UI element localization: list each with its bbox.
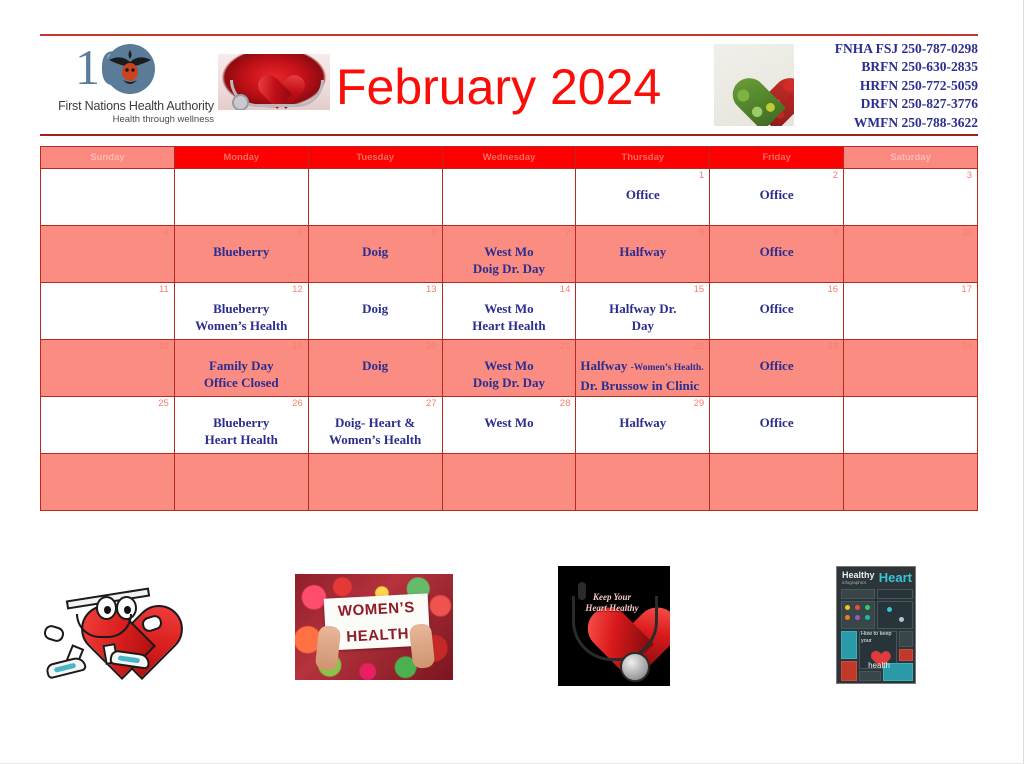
- day-events: Halfway: [576, 226, 709, 260]
- event-text: Blueberry: [175, 243, 308, 260]
- day-cell-inner: 17: [844, 283, 977, 339]
- day-events: West MoDoig Dr. Day: [443, 226, 576, 277]
- heart-shape-icon: [867, 645, 885, 661]
- calendar-week-row: 45Blueberry6Doig7West MoDoig Dr. Day8Hal…: [41, 226, 978, 283]
- fnha-logo: 10 First Nations Health Authority Health…: [52, 42, 220, 130]
- contact-item: HRFN 250-772-5059: [768, 77, 978, 95]
- weekday-header-wednesday: Wednesday: [442, 147, 576, 169]
- day-events: Office: [710, 397, 843, 431]
- event-text: Women’s Health: [309, 431, 442, 448]
- day-events: Doig: [309, 283, 442, 317]
- day-events: Office: [710, 169, 843, 203]
- day-cell-inner: 25: [41, 397, 174, 453]
- day-cell-inner: 18: [41, 340, 174, 396]
- infographic-title: Healthy infographics Heart: [842, 571, 912, 586]
- hand-right-icon: [409, 623, 435, 669]
- calendar-day-cell[interactable]: [844, 454, 978, 511]
- heart-arm-left-icon: [42, 623, 66, 643]
- day-number: 27: [426, 398, 437, 409]
- day-cell-inner: 16Office: [710, 283, 843, 339]
- calendar-day-cell[interactable]: [442, 169, 576, 226]
- infographic-dot: [855, 615, 860, 620]
- calendar-week-row: 1819Family DayOffice Closed20Doig21West …: [41, 340, 978, 397]
- day-cell-inner: 15Halfway Dr.Day: [576, 283, 709, 339]
- event-text: Office: [576, 186, 709, 203]
- day-events: Halfway: [576, 397, 709, 431]
- event-text: West Mo: [443, 300, 576, 317]
- calendar-day-cell[interactable]: 1Office: [576, 169, 710, 226]
- day-cell-inner: [309, 454, 442, 510]
- day-events: BlueberryHeart Health: [175, 397, 308, 448]
- calendar-grid: Sunday Monday Tuesday Wednesday Thursday…: [40, 146, 978, 511]
- calendar-day-cell[interactable]: [308, 454, 442, 511]
- day-cell-inner: [844, 454, 977, 510]
- calendar-day-cell[interactable]: [174, 169, 308, 226]
- day-events: Office: [710, 283, 843, 317]
- calendar-week-row: 1Office2Office3: [41, 169, 978, 226]
- healthy-heart-infographic-image: Healthy infographics Heart: [836, 566, 916, 684]
- event-text: Halfway: [576, 414, 709, 431]
- calendar-day-cell[interactable]: 24: [844, 340, 978, 397]
- day-cell-inner: 14West MoHeart Health: [443, 283, 576, 339]
- sign-line-1: WOMEN’S: [324, 595, 429, 624]
- calendar-day-cell[interactable]: 26BlueberryHeart Health: [174, 397, 308, 454]
- day-cell-inner: 26BlueberryHeart Health: [175, 397, 308, 453]
- day-number: 23: [827, 341, 838, 352]
- infographic-panel: [899, 631, 913, 647]
- day-number: 12: [292, 284, 303, 295]
- day-number: 24: [961, 341, 972, 352]
- day-events: Doig: [309, 226, 442, 260]
- day-events: Doig: [309, 340, 442, 374]
- contact-list: FNHA FSJ 250-787-0298 BRFN 250-630-2835 …: [768, 40, 978, 132]
- weekday-header-tuesday: Tuesday: [308, 147, 442, 169]
- day-cell-inner: 10: [844, 226, 977, 282]
- day-cell-inner: 24: [844, 340, 977, 396]
- day-number: 9: [833, 227, 838, 238]
- event-text: Doig: [309, 300, 442, 317]
- calendar-day-cell[interactable]: 4: [41, 226, 175, 283]
- calendar-day-cell[interactable]: 6Doig: [308, 226, 442, 283]
- calendar-day-cell[interactable]: 10: [844, 226, 978, 283]
- day-cell-inner: 29Halfway: [576, 397, 709, 453]
- day-number: 5: [297, 227, 302, 238]
- calendar-body: 1Office2Office345Blueberry6Doig7West MoD…: [41, 169, 978, 511]
- calendar-day-cell[interactable]: 7West MoDoig Dr. Day: [442, 226, 576, 283]
- infographic-panel: [877, 589, 913, 599]
- infographic-howto-text: How to keep your: [861, 631, 899, 645]
- day-cell-inner: 7West MoDoig Dr. Day: [443, 226, 576, 282]
- eagle-icon: [105, 44, 155, 94]
- calendar-day-cell[interactable]: 28West Mo: [442, 397, 576, 454]
- day-cell-inner: [710, 454, 843, 510]
- day-number: 28: [560, 398, 571, 409]
- event-text: -Women’s Health.: [631, 363, 704, 373]
- calendar-day-cell[interactable]: [41, 169, 175, 226]
- calendar-day-cell[interactable]: 16Office: [710, 283, 844, 340]
- day-events: BlueberryWomen’s Health: [175, 283, 308, 334]
- day-cell-inner: [41, 169, 174, 225]
- day-cell-inner: 1Office: [576, 169, 709, 225]
- day-number: 22: [694, 341, 705, 352]
- page-header: 10 First Nations Health Authority Health…: [40, 34, 978, 136]
- calendar-day-cell[interactable]: Office: [710, 397, 844, 454]
- org-tagline: Health through wellness: [52, 114, 220, 125]
- weekday-header-monday: Monday: [174, 147, 308, 169]
- event-text: Doig Dr. Day: [443, 260, 576, 277]
- calendar-day-cell[interactable]: [442, 454, 576, 511]
- calendar-day-cell[interactable]: 23Office: [710, 340, 844, 397]
- calendar-day-cell[interactable]: 12BlueberryWomen’s Health: [174, 283, 308, 340]
- day-number: 8: [699, 227, 704, 238]
- weekday-header-friday: Friday: [710, 147, 844, 169]
- event-text: Halfway Dr.: [576, 300, 709, 317]
- day-cell-inner: 12BlueberryWomen’s Health: [175, 283, 308, 339]
- event-text: Doig: [309, 243, 442, 260]
- calendar-day-cell[interactable]: 2Office: [710, 169, 844, 226]
- weekday-header-saturday: Saturday: [844, 147, 978, 169]
- day-number: 18: [158, 341, 169, 352]
- calendar-day-cell[interactable]: 15Halfway Dr.Day: [576, 283, 710, 340]
- event-text: Office: [710, 243, 843, 260]
- calendar-day-cell[interactable]: [308, 169, 442, 226]
- day-cell-inner: 5Blueberry: [175, 226, 308, 282]
- infographic-panel: [841, 631, 857, 659]
- day-cell-inner: 11: [41, 283, 174, 339]
- calendar-day-cell[interactable]: [576, 454, 710, 511]
- day-number: 20: [426, 341, 437, 352]
- calendar-day-cell[interactable]: 14West MoHeart Health: [442, 283, 576, 340]
- day-number: 7: [565, 227, 570, 238]
- day-events: Blueberry: [175, 226, 308, 260]
- page-title: February 2024: [336, 50, 661, 124]
- weekday-header-thursday: Thursday: [576, 147, 710, 169]
- day-events: West Mo: [443, 397, 576, 431]
- day-number: 10: [961, 227, 972, 238]
- stethoscope-bell-icon: [620, 652, 650, 682]
- day-number: 6: [431, 227, 436, 238]
- event-text: Day: [576, 317, 709, 334]
- day-cell-inner: [309, 169, 442, 225]
- calendar-day-cell[interactable]: [844, 397, 978, 454]
- infographic-panels: How to keep your health: [841, 589, 913, 681]
- day-number: 13: [426, 284, 437, 295]
- day-events: Family DayOffice Closed: [175, 340, 308, 391]
- event-text: Office: [710, 357, 843, 374]
- event-text: Blueberry: [175, 300, 308, 317]
- event-text: Office: [710, 414, 843, 431]
- weekday-header-sunday: Sunday: [41, 147, 175, 169]
- day-events: Doig- Heart &Women’s Health: [309, 397, 442, 448]
- event-text: Heart Health: [443, 317, 576, 334]
- event-text: Office Closed: [175, 374, 308, 391]
- event-text: West Mo: [443, 414, 576, 431]
- infographic-dot: [865, 605, 870, 610]
- day-cell-inner: 28West Mo: [443, 397, 576, 453]
- day-cell-inner: 23Office: [710, 340, 843, 396]
- infographic-dot: [899, 617, 904, 622]
- day-number: 1: [699, 170, 704, 181]
- day-number: 2: [833, 170, 838, 181]
- event-text: Office: [710, 300, 843, 317]
- day-cell-inner: 4: [41, 226, 174, 282]
- hand-left-icon: [315, 625, 341, 671]
- calendar-day-cell[interactable]: 13Doig: [308, 283, 442, 340]
- day-events: West MoHeart Health: [443, 283, 576, 334]
- calendar-header-row: Sunday Monday Tuesday Wednesday Thursday…: [41, 147, 978, 169]
- day-cell-inner: Office: [710, 397, 843, 453]
- infographic-health-word: health: [859, 661, 899, 670]
- day-events: Office: [576, 169, 709, 203]
- day-events: Halfway Dr.Day: [576, 283, 709, 334]
- calendar-day-cell[interactable]: [41, 454, 175, 511]
- infographic-panel: [841, 661, 857, 681]
- day-number: 21: [560, 341, 571, 352]
- day-cell-inner: 8Halfway: [576, 226, 709, 282]
- day-cell-inner: 9Office: [710, 226, 843, 282]
- calendar-day-cell[interactable]: 11: [41, 283, 175, 340]
- heart-stethoscope-photo: [218, 54, 330, 110]
- day-cell-inner: 2Office: [710, 169, 843, 225]
- stethoscope-bell-icon: [232, 94, 249, 110]
- calendar-day-cell[interactable]: 3: [844, 169, 978, 226]
- day-cell-inner: 27Doig- Heart &Women’s Health: [309, 397, 442, 453]
- calendar-page: 10 First Nations Health Authority Health…: [0, 0, 1024, 764]
- day-number: 19: [292, 341, 303, 352]
- day-number: 4: [164, 227, 169, 238]
- day-number: 14: [560, 284, 571, 295]
- calendar-day-cell[interactable]: 21West MoDoig Dr. Day: [442, 340, 576, 397]
- day-cell-inner: 22Halfway -Women’s Health. Dr. Brussow i…: [576, 340, 709, 396]
- day-cell-inner: [175, 169, 308, 225]
- calendar-day-cell[interactable]: 19Family DayOffice Closed: [174, 340, 308, 397]
- calendar-day-cell[interactable]: 8Halfway: [576, 226, 710, 283]
- day-number: 17: [961, 284, 972, 295]
- day-cell-inner: [844, 397, 977, 453]
- event-text: Women’s Health: [175, 317, 308, 334]
- infographic-panel: [899, 649, 913, 661]
- event-text: West Mo: [443, 357, 576, 374]
- womens-health-photo: WOMEN’S HEALTH: [295, 574, 453, 680]
- org-name: First Nations Health Authority: [52, 99, 220, 113]
- day-number: 3: [967, 170, 972, 181]
- day-cell-inner: [175, 454, 308, 510]
- calendar-day-cell[interactable]: 27Doig- Heart &Women’s Health: [308, 397, 442, 454]
- day-events: Office: [710, 226, 843, 260]
- day-cell-inner: 6Doig: [309, 226, 442, 282]
- infographic-dot: [865, 615, 870, 620]
- footer-image-strip: WOMEN’S HEALTH Keep Your Heart Healthy H…: [0, 560, 1024, 700]
- day-number: 16: [827, 284, 838, 295]
- calendar-day-cell[interactable]: 25: [41, 397, 175, 454]
- calendar-week-row: 1112BlueberryWomen’s Health13Doig14West …: [41, 283, 978, 340]
- calendar-day-cell[interactable]: 9Office: [710, 226, 844, 283]
- calendar-day-cell[interactable]: 22Halfway -Women’s Health. Dr. Brussow i…: [576, 340, 710, 397]
- calendar-day-cell[interactable]: 20Doig: [308, 340, 442, 397]
- calendar-day-cell[interactable]: [710, 454, 844, 511]
- infographic-dot: [855, 605, 860, 610]
- contact-item: DRFN 250-827-3776: [768, 95, 978, 113]
- event-text: Halfway: [576, 243, 709, 260]
- day-number: 11: [159, 284, 169, 295]
- calendar-week-row: [41, 454, 978, 511]
- infographic-dot: [845, 605, 850, 610]
- event-text: Doig: [309, 357, 442, 374]
- contact-item: FNHA FSJ 250-787-0298: [768, 40, 978, 58]
- contact-item: WMFN 250-788-3622: [768, 114, 978, 132]
- event-text: Family Day: [175, 357, 308, 374]
- event-text: Halfway: [580, 358, 630, 373]
- infographic-title-word-3: Heart: [879, 571, 912, 584]
- keep-your-heart-healthy-image: Keep Your Heart Healthy: [558, 566, 670, 686]
- calendar-day-cell[interactable]: [174, 454, 308, 511]
- day-events: Halfway -Women’s Health. Dr. Brussow in …: [576, 340, 709, 394]
- day-number: 26: [292, 398, 303, 409]
- day-cell-inner: 3: [844, 169, 977, 225]
- event-text: Office: [710, 186, 843, 203]
- fnha-logo-mark: 10: [61, 42, 211, 98]
- day-cell-inner: 21West MoDoig Dr. Day: [443, 340, 576, 396]
- day-events: Office: [710, 340, 843, 374]
- event-text: Doig- Heart &: [309, 414, 442, 431]
- day-cell-inner: [576, 454, 709, 510]
- contact-item: BRFN 250-630-2835: [768, 58, 978, 76]
- event-text: West Mo: [443, 243, 576, 260]
- infographic-panel: [859, 671, 881, 681]
- event-text: Blueberry: [175, 414, 308, 431]
- day-cell-inner: [443, 169, 576, 225]
- stethoscope-earpiece-icon: [578, 582, 586, 600]
- infographic-panel: [877, 601, 913, 629]
- day-number: 25: [158, 398, 169, 409]
- calendar-day-cell[interactable]: 5Blueberry: [174, 226, 308, 283]
- event-text: Dr. Brussow in Clinic: [580, 378, 699, 393]
- calendar-week-row: 2526BlueberryHeart Health27Doig- Heart &…: [41, 397, 978, 454]
- day-cell-inner: 20Doig: [309, 340, 442, 396]
- event-text: Heart Health: [175, 431, 308, 448]
- day-cell-inner: [443, 454, 576, 510]
- day-cell-inner: 19Family DayOffice Closed: [175, 340, 308, 396]
- running-heart-cartoon-image: [38, 568, 186, 686]
- calendar-day-cell[interactable]: 29Halfway: [576, 397, 710, 454]
- calendar-day-cell[interactable]: 17: [844, 283, 978, 340]
- infographic-dot: [887, 607, 892, 612]
- day-events: West MoDoig Dr. Day: [443, 340, 576, 391]
- calendar-day-cell[interactable]: 18: [41, 340, 175, 397]
- sneaker-left-icon: [45, 655, 87, 679]
- day-number: 15: [694, 284, 705, 295]
- event-text: Doig Dr. Day: [443, 374, 576, 391]
- infographic-dot: [845, 615, 850, 620]
- day-number: 29: [694, 398, 705, 409]
- day-cell-inner: [41, 454, 174, 510]
- infographic-panel: [841, 589, 875, 599]
- day-cell-inner: 13Doig: [309, 283, 442, 339]
